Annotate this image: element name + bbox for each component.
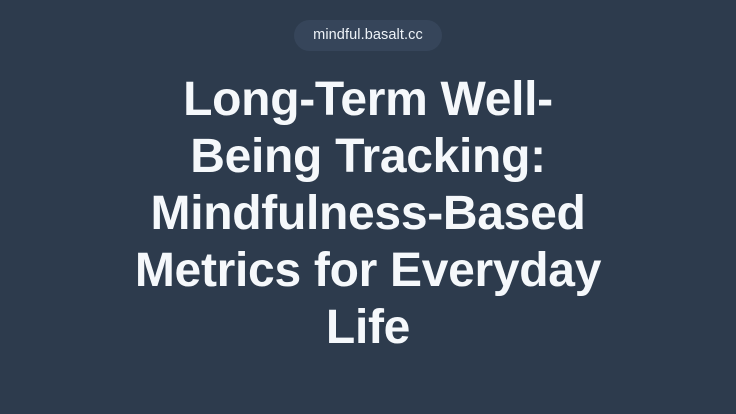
page-title: Long-Term Well-Being Tracking: Mindfulne… xyxy=(133,71,603,356)
headline-container: Long-Term Well-Being Tracking: Mindfulne… xyxy=(56,71,680,356)
open-graph-card: mindful.basalt.cc Long-Term Well-Being T… xyxy=(0,0,736,414)
site-domain-badge: mindful.basalt.cc xyxy=(294,20,442,51)
badge-row: mindful.basalt.cc xyxy=(56,20,680,51)
